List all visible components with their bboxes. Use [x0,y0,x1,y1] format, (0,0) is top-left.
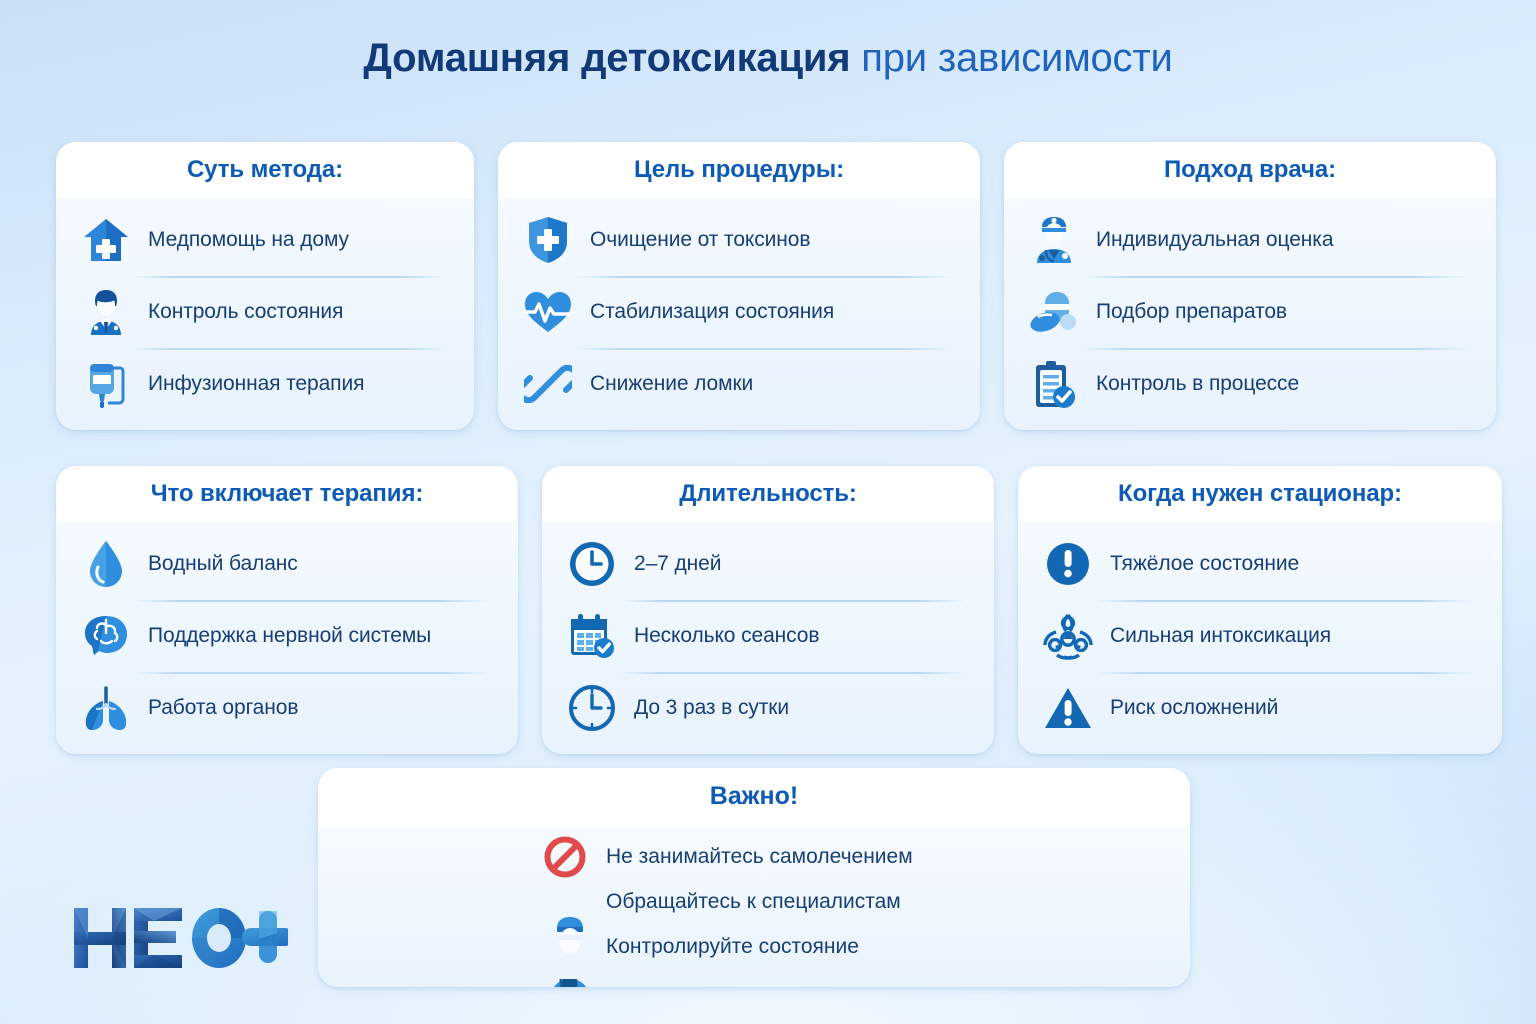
card-header: Суть метода: [56,142,474,198]
card-header: Что включает терапия: [56,466,518,522]
doctor-stethoscope-icon [1026,212,1082,268]
list-item-label: До 3 раз в сутки [634,696,789,720]
page-title: Домашняя детоксикация при зависимости [0,36,1536,81]
list-item-label: Стабилизация состояния [590,300,834,324]
cards-row-2: Что включает терапия: Водный баланс [56,466,1480,754]
doctor-figure-icon [544,879,596,925]
list-item-label: Риск осложнений [1110,696,1278,720]
card-podhod-vracha: Подход врача: Инди [1004,142,1496,430]
card-title: Когда нужен стационар: [1118,480,1402,508]
important-list-item-label: Контролируйте состояние [606,935,859,959]
list-item[interactable]: Риск осложнений [1040,672,1480,744]
card-dlitelnost: Длительность: 2–7 дней [542,466,994,754]
list-item-label: Несколько сеансов [634,624,819,648]
clipboard-check-icon [1026,356,1082,412]
important-list-item-label: Обращайтесь к специалистам [606,890,901,914]
list-item-label: Подбор препаратов [1096,300,1287,324]
card-header: Длительность: [542,466,994,522]
card-body: Индивидуальная оценка Подбор препаратов [1004,198,1496,430]
card-body: Медпомощь на дому Контроль состоян [56,198,474,430]
list-item[interactable]: Тяжёлое состояние [1040,528,1480,600]
list-item-label: Очищение от токсинов [590,228,810,252]
list-item-label: Работа органов [148,696,298,720]
list-item[interactable]: Подбор препаратов [1026,276,1474,348]
list-item[interactable]: 2–7 дней [564,528,972,600]
list-item[interactable]: Поддержка нервной системы [78,600,496,672]
card-title: Подход врача: [1164,156,1336,184]
list-item-label: Контроль в процессе [1096,372,1299,396]
brain-icon [78,608,134,664]
card-body: Очищение от токсинов Стабилизация состоя… [498,198,980,430]
card-header: Подход врача: [1004,142,1496,198]
card-chto-vklyuchaet-terapiya: Что включает терапия: Водный баланс [56,466,518,754]
list-item-label: Инфузионная терапия [148,372,364,396]
clock-outline-icon [564,680,620,736]
card-header: Когда нужен стационар: [1018,466,1502,522]
pills-icon [1026,284,1082,340]
list-item[interactable]: Сильная интоксикация [1040,600,1480,672]
list-item[interactable]: Работа органов [78,672,496,744]
list-item[interactable]: Инфузионная терапия [78,348,452,420]
list-item[interactable]: Контроль в процессе [1026,348,1474,420]
heart-pulse-icon [520,284,576,340]
list-item[interactable]: Водный баланс [78,528,496,600]
neo-plus-logo [72,898,288,978]
doctor-icon [78,284,134,340]
important-panel: Важно! Не занимайтесь самолечением [318,768,1190,987]
important-header: Важно! [318,768,1190,824]
prohibition-icon [544,834,596,880]
list-item[interactable]: Снижение ломки [520,348,958,420]
list-item-label: Снижение ломки [590,372,753,396]
page-title-light: при зависимости [850,36,1172,80]
iv-drip-icon [78,356,134,412]
card-body: Тяжёлое состояние [1018,522,1502,754]
card-title: Суть метода: [187,156,343,184]
list-item[interactable]: До 3 раз в сутки [564,672,972,744]
calendar-check-icon [564,608,620,664]
list-item[interactable]: Индивидуальная оценка [1026,204,1474,276]
house-cross-icon [78,212,134,268]
biohazard-icon [1040,608,1096,664]
important-list-item-label: Не занимайтесь самолечением [606,845,913,869]
card-header: Цель процедуры: [498,142,980,198]
list-item[interactable]: Стабилизация состояния [520,276,958,348]
list-item[interactable]: Контроль состояния [78,276,452,348]
warning-triangle-icon [1040,680,1096,736]
list-item-label: 2–7 дней [634,552,721,576]
list-item-label: Медпомощь на дому [148,228,349,252]
list-item-label: Водный баланс [148,552,298,576]
exclamation-circle-icon [1040,536,1096,592]
list-item-label: Поддержка нервной системы [148,624,431,648]
list-item-label: Сильная интоксикация [1110,624,1331,648]
lungs-icon [78,680,134,736]
card-body: 2–7 дней [542,522,994,754]
card-kogda-nuzhen-stacionar: Когда нужен стационар: Тяжёлое состояние [1018,466,1502,754]
important-list-item[interactable]: Не занимайтесь самолечением [544,834,964,879]
card-cel-procedury: Цель процедуры: Очищение от токсинов [498,142,980,430]
list-item[interactable]: Медпомощь на дому [78,204,452,276]
doctor-figure-icon-lower [544,924,596,970]
list-item-label: Индивидуальная оценка [1096,228,1333,252]
card-title: Что включает терапия: [151,480,424,508]
list-item[interactable]: Несколько сеансов [564,600,972,672]
important-body: Не занимайтесь самолечением [318,824,1190,987]
list-item-label: Контроль состояния [148,300,343,324]
clock-icon [564,536,620,592]
important-title: Важно! [710,782,798,811]
list-item[interactable]: Очищение от токсинов [520,204,958,276]
chain-link-icon [520,356,576,412]
list-item-label: Тяжёлое состояние [1110,552,1299,576]
important-list-item[interactable]: Обращайтесь к специалистам [544,879,964,924]
card-title: Длительность: [679,480,857,508]
water-drop-icon [78,536,134,592]
card-title: Цель процедуры: [634,156,844,184]
cards-row-1: Суть метода: Медпомощь на дому [56,142,1480,430]
shield-cross-icon [520,212,576,268]
page-title-strong: Домашняя детоксикация [363,36,850,80]
important-list-item[interactable]: Контролируйте состояние [544,924,964,969]
card-sut-metoda: Суть метода: Медпомощь на дому [56,142,474,430]
card-body: Водный баланс [56,522,518,754]
